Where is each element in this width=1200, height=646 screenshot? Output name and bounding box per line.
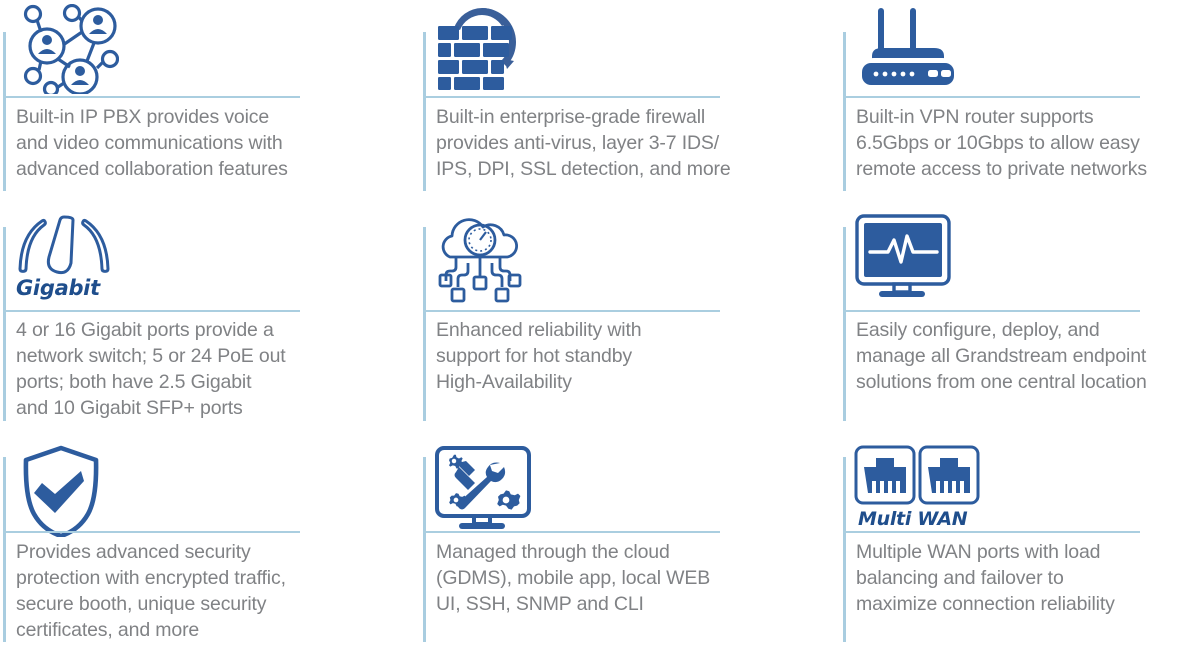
feature-description: 4 or 16 Gigabit ports provide a network … [16, 317, 286, 421]
feature-cell-ip-pbx: Built-in IP PBX provides voice and video… [0, 0, 420, 205]
vertical-accent-rule [843, 457, 846, 642]
feature-cell-gigabit-ports: Gigabit 4 or 16 Gigabit ports provide a … [0, 205, 420, 435]
feature-description: Enhanced reliability with support for ho… [436, 317, 641, 395]
feature-cell-gdms-management: Managed through the cloud (GDMS), mobile… [420, 435, 840, 646]
feature-cell-vpn-router: Built-in VPN router supports 6.5Gbps or … [840, 0, 1200, 205]
multi-wan-wordmark: Multi WAN [858, 508, 967, 530]
feature-description: Built-in enterprise-grade firewall provi… [436, 104, 731, 182]
shield-check-icon [14, 445, 109, 545]
horizontal-divider [3, 531, 300, 533]
vertical-accent-rule [423, 32, 426, 191]
gigabit-wordmark: Gigabit [16, 276, 100, 300]
cloud-gauge-nodes-icon [434, 213, 534, 313]
network-users-icon [14, 4, 119, 104]
horizontal-divider [3, 310, 300, 312]
feature-description: Built-in VPN router supports 6.5Gbps or … [856, 104, 1147, 182]
vertical-accent-rule [843, 227, 846, 421]
horizontal-divider [843, 531, 1140, 533]
monitor-pulse-icon [854, 213, 954, 313]
feature-description: Provides advanced security protection wi… [16, 539, 286, 643]
feature-cell-high-availability: Enhanced reliability with support for ho… [420, 205, 840, 435]
feature-cell-firewall: Built-in enterprise-grade firewall provi… [420, 0, 840, 205]
firewall-globe-icon [434, 4, 539, 104]
feature-description: Managed through the cloud (GDMS), mobile… [436, 539, 710, 617]
horizontal-divider [423, 310, 720, 312]
monitor-tools-gears-icon [434, 445, 534, 545]
feature-cell-central-management: Easily configure, deploy, and manage all… [840, 205, 1200, 435]
vertical-accent-rule [423, 457, 426, 642]
feature-cell-multi-wan: Multi WAN Multiple WAN ports with load b… [840, 435, 1200, 646]
vertical-accent-rule [3, 32, 6, 191]
vertical-accent-rule [423, 227, 426, 421]
vpn-router-icon [854, 4, 964, 104]
feature-description: Easily configure, deploy, and manage all… [856, 317, 1147, 395]
feature-description: Multiple WAN ports with load balancing a… [856, 539, 1115, 617]
horizontal-divider [3, 96, 300, 98]
horizontal-divider [423, 96, 720, 98]
vertical-accent-rule [3, 457, 6, 642]
vertical-accent-rule [3, 227, 6, 421]
vertical-accent-rule [843, 32, 846, 191]
horizontal-divider [843, 96, 1140, 98]
rj45-dual-port-icon: Multi WAN [854, 445, 984, 545]
feature-description: Built-in IP PBX provides voice and video… [16, 104, 288, 182]
feature-cell-security: Provides advanced security protection wi… [0, 435, 420, 646]
horizontal-divider [843, 310, 1140, 312]
feature-grid: Built-in IP PBX provides voice and video… [0, 0, 1200, 646]
horizontal-divider [423, 531, 720, 533]
gigabit-swoosh-icon: Gigabit [14, 213, 114, 313]
